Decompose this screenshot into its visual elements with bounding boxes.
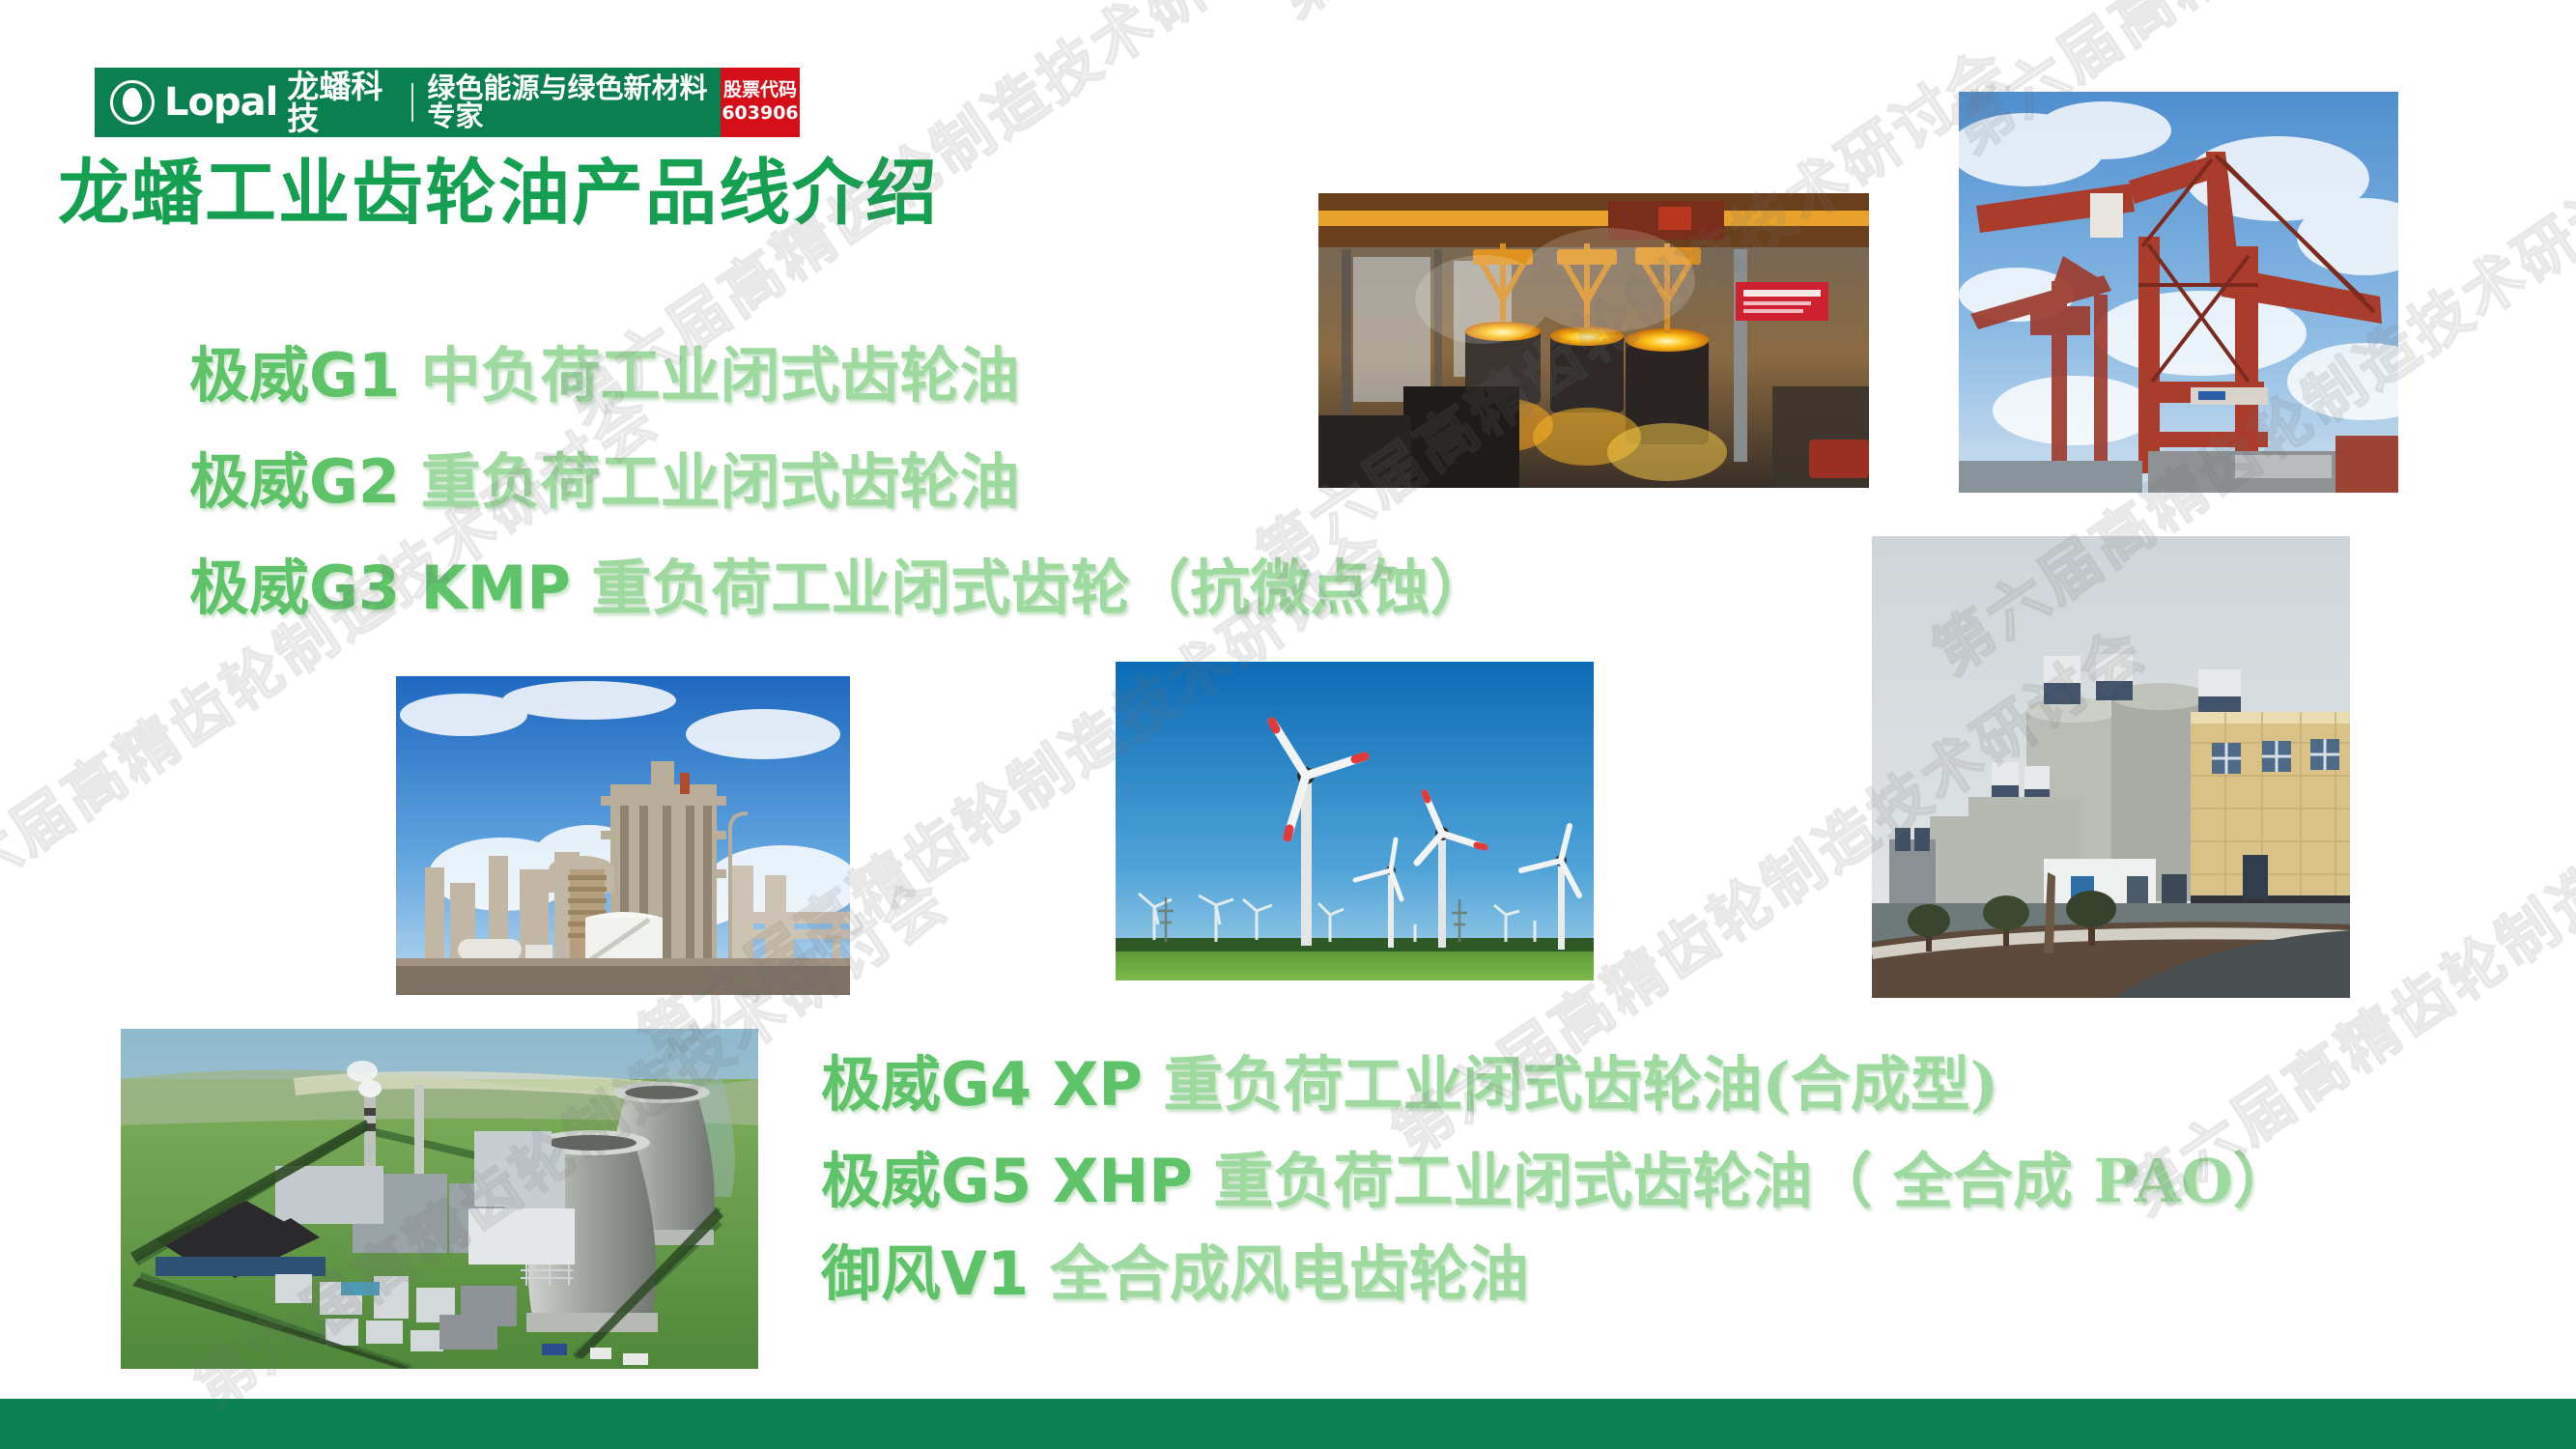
product-desc-g1: 中负荷工业闭式齿轮油 <box>421 340 1020 411</box>
product-desc-g3: 重负荷工业闭式齿轮（抗微点蚀） <box>591 553 1489 623</box>
product-line-g3: 极威G3 KMP 重负荷工业闭式齿轮（抗微点蚀） <box>189 558 1489 618</box>
product-line-g1: 极威G1 中负荷工业闭式齿轮油 <box>189 346 1020 406</box>
product-code-v1: 御风V1 <box>821 1238 1029 1309</box>
product-code-g5: 极威G5 XHP <box>821 1146 1193 1216</box>
product-desc-g5: 重负荷工业闭式齿轮油（ 全合成 PAO） <box>1213 1146 2292 1216</box>
power-plant-illustration <box>121 1029 758 1369</box>
port-crane-photo <box>1959 92 2398 493</box>
product-line-g4: 极威G4 XP 重负荷工业闭式齿轮油(合成型) <box>821 1055 1998 1115</box>
wind-farm-photo <box>1116 662 1594 980</box>
refinery-photo <box>396 676 850 995</box>
steelmill-illustration <box>1318 193 1869 488</box>
logo-tagline: 绿色能源与绿色新材料专家 <box>427 74 721 130</box>
stock-code-label: 股票代码 <box>723 79 797 102</box>
product-line-g2: 极威G2 重负荷工业闭式齿轮油 <box>189 452 1020 512</box>
logo-wordmark: Lopal <box>164 83 277 122</box>
page-title: 龙蟠工业齿轮油产品线介绍 <box>58 155 939 233</box>
product-line-v1: 御风V1 全合成风电齿轮油 <box>821 1244 1529 1304</box>
logo-chinese-name: 龙蟠科技 <box>287 71 398 134</box>
product-desc-g4: 重负荷工业闭式齿轮油(合成型) <box>1163 1049 1998 1120</box>
product-desc-v1: 全合成风电齿轮油 <box>1050 1238 1529 1309</box>
steelmill-photo <box>1318 193 1869 488</box>
slide-canvas: Lopal 龙蟠科技 绿色能源与绿色新材料专家 股票代码 603906 龙蟠工业… <box>0 0 2576 1449</box>
power-plant-photo <box>121 1029 758 1369</box>
watermark-text: 第六届高精齿轮制造技术研讨会 <box>1256 0 2044 34</box>
product-desc-g2: 重负荷工业闭式齿轮油 <box>421 446 1020 517</box>
port-crane-illustration <box>1959 92 2398 493</box>
stock-code-number: 603906 <box>722 102 798 126</box>
cement-plant-illustration <box>1872 536 2350 998</box>
company-logo-bar: Lopal 龙蟠科技 绿色能源与绿色新材料专家 股票代码 603906 <box>95 68 800 137</box>
product-code-g1: 极威G1 <box>189 340 400 411</box>
refinery-illustration <box>396 676 850 995</box>
product-line-g5: 极威G5 XHP 重负荷工业闭式齿轮油（ 全合成 PAO） <box>821 1151 2293 1211</box>
wind-farm-illustration <box>1116 662 1594 980</box>
product-code-g3: 极威G3 KMP <box>189 553 571 623</box>
product-code-g4: 极威G4 XP <box>821 1049 1143 1120</box>
lopal-emblem-icon <box>110 80 155 125</box>
stock-code-badge: 股票代码 603906 <box>721 68 800 137</box>
logo-divider <box>411 83 413 122</box>
product-code-g2: 极威G2 <box>189 446 400 517</box>
footer-bar <box>0 1399 2576 1449</box>
logo-main-panel: Lopal 龙蟠科技 绿色能源与绿色新材料专家 <box>95 68 721 137</box>
cement-plant-photo <box>1872 536 2350 998</box>
